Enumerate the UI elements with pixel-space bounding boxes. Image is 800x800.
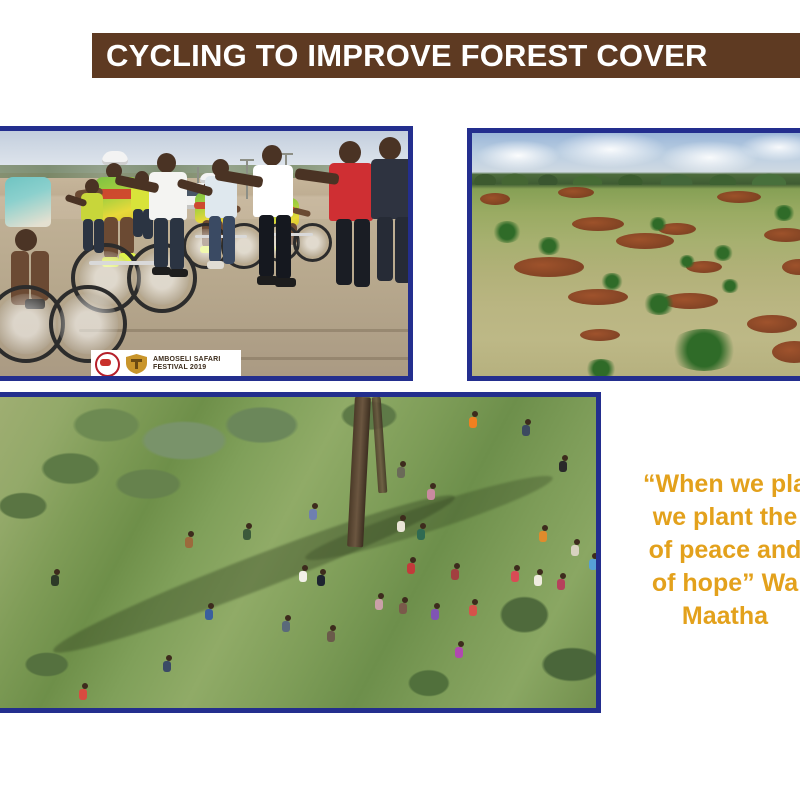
spectator-leg [223, 216, 235, 264]
festival-logo-bar: AMBOSELI SAFARI FESTIVAL 2019 [91, 350, 241, 376]
planter-body [469, 605, 477, 616]
tree-seedling [492, 221, 522, 243]
spectator-leg [133, 209, 143, 237]
planted-field-photo-content [472, 133, 800, 376]
planter-body [455, 647, 463, 658]
planter-body [299, 571, 307, 582]
road-shadow [79, 329, 408, 332]
tree-seedling [600, 273, 624, 290]
planter-body [522, 425, 530, 436]
planter-body [375, 599, 383, 610]
spectator-shoe [169, 269, 188, 277]
spectator-shoe [275, 278, 296, 287]
quote-line: “When we pla [610, 468, 800, 501]
quote-line: of hope” Wa [610, 567, 800, 600]
quote-line: of peace and [610, 534, 800, 567]
planter-body [317, 575, 325, 586]
planter-body [397, 521, 405, 532]
planter-body [534, 575, 542, 586]
spectator-leg [336, 219, 352, 285]
planter-body [431, 609, 439, 620]
page-title: CYCLING TO IMPROVE FOREST COVER [92, 33, 708, 78]
soil-patch [572, 217, 624, 231]
quote-line: we plant the [610, 501, 800, 534]
tree-seedling [642, 293, 676, 315]
presentation-slide: CYCLING TO IMPROVE FOREST COVER [0, 0, 800, 800]
planted-field-photo [467, 128, 800, 381]
planter-body [399, 603, 407, 614]
tree-seedling [772, 205, 796, 221]
soil-patch [558, 187, 594, 198]
planter-body [451, 569, 459, 580]
spectator-head [85, 179, 99, 194]
spectator-leg [259, 215, 274, 277]
spectator-head [339, 141, 361, 164]
soil-patch [747, 315, 797, 333]
soil-patch [480, 193, 510, 205]
planter-body [185, 537, 193, 548]
planter-body [309, 509, 317, 520]
bicycle-frame [195, 235, 247, 238]
soil-patch [514, 257, 584, 277]
cyclists-photo-content: AMBOSELI SAFARI FESTIVAL 2019 [0, 131, 408, 376]
spectator-leg [83, 219, 93, 251]
tree-seedling [648, 217, 668, 231]
spectator-head [262, 145, 282, 166]
spectator-shoe [207, 261, 224, 269]
festival-label: AMBOSELI SAFARI FESTIVAL 2019 [153, 356, 221, 372]
amboseli-seal-icon [95, 352, 120, 377]
planter-body [417, 529, 425, 540]
spectator-torso [329, 163, 373, 221]
festival-label-line1: AMBOSELI SAFARI [153, 356, 221, 364]
cyclist-head [15, 229, 37, 251]
soil-patch [568, 289, 628, 305]
spectator-torso [371, 159, 408, 219]
planter-body [539, 531, 547, 542]
utility-pole-crossbar [240, 159, 254, 161]
planter-body [51, 575, 59, 586]
soil-patch [580, 329, 620, 341]
planter-body [163, 661, 171, 672]
bicycle-wheel [293, 223, 332, 262]
festival-shield-icon [125, 354, 148, 374]
spectator-torso [253, 165, 293, 217]
spectator-leg [154, 218, 168, 268]
spectator-torso [81, 193, 103, 221]
spectator-leg [170, 218, 184, 270]
spectator-leg [377, 217, 393, 281]
planter-body [243, 529, 251, 540]
tree-seedling [712, 245, 734, 261]
soil-patch [764, 228, 800, 242]
background-treeline [472, 166, 800, 185]
planter-body [397, 467, 405, 478]
spectator-leg [209, 216, 221, 262]
planter-body [469, 417, 477, 428]
quote-text-block: “When we pla we plant the of peace and o… [610, 468, 800, 633]
tree-seedling [720, 279, 740, 293]
spectator-leg [276, 215, 291, 279]
planter-body [205, 609, 213, 620]
spectator-leg [94, 219, 104, 253]
spectator-head [157, 153, 176, 173]
quote-line: Maatha [610, 600, 800, 633]
festival-label-line2: FESTIVAL 2019 [153, 364, 221, 372]
planter-body [511, 571, 519, 582]
tree-seedling [668, 329, 740, 371]
hillside-planting-photo-content [0, 397, 596, 708]
planter-body [427, 489, 435, 500]
planter-body [557, 579, 565, 590]
hillside-planting-photo [0, 392, 601, 713]
spectator-leg [354, 219, 370, 287]
planter-body [559, 461, 567, 472]
planter-body [571, 545, 579, 556]
spectator-head [379, 137, 401, 160]
planter-body [327, 631, 335, 642]
planter-body [79, 689, 87, 700]
tree-seedling [536, 237, 562, 255]
planter-body [407, 563, 415, 574]
title-banner: CYCLING TO IMPROVE FOREST COVER [92, 33, 800, 78]
tree-seedling [678, 255, 696, 268]
planter-body [589, 559, 596, 570]
cyclist-jersey [5, 177, 51, 227]
soil-patch [616, 233, 674, 249]
tree-seedling [584, 359, 618, 376]
planter-body [282, 621, 290, 632]
spectator-leg [395, 217, 408, 283]
soil-patch [717, 191, 761, 203]
cyclists-photo: AMBOSELI SAFARI FESTIVAL 2019 [0, 126, 413, 381]
